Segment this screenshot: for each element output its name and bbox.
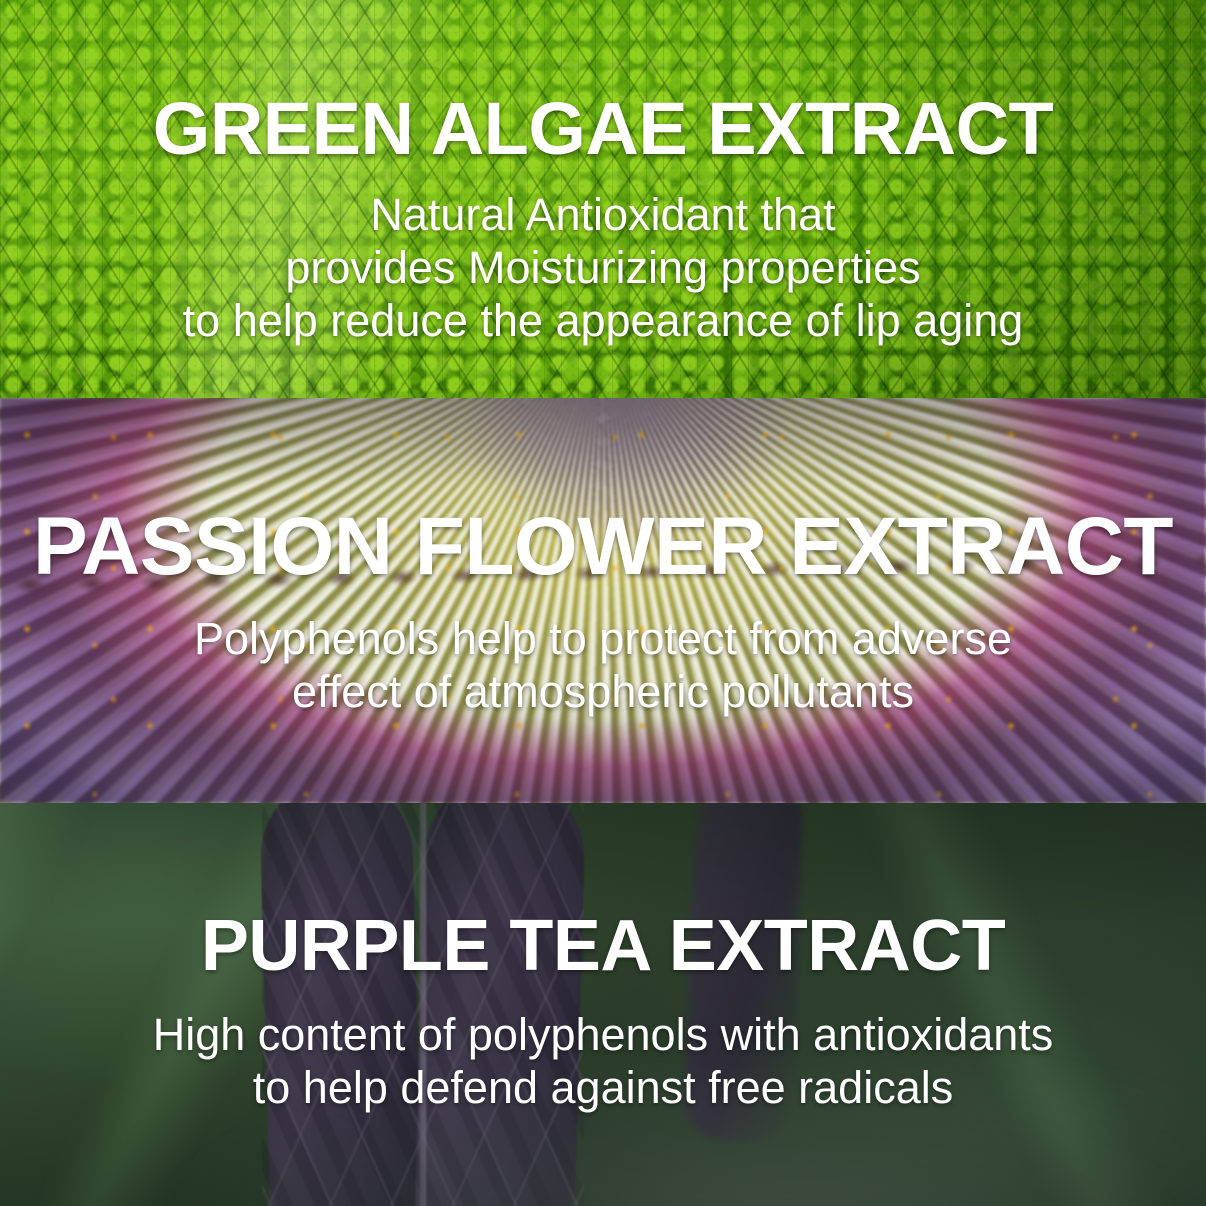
description-line: High content of polyphenols with antioxi… [0, 1008, 1206, 1061]
purple-tea-description: High content of polyphenols with antioxi… [0, 1008, 1206, 1114]
panel-purple-tea: PURPLE TEA EXTRACT High content of polyp… [0, 803, 1206, 1206]
purple-tea-content: PURPLE TEA EXTRACT High content of polyp… [0, 910, 1206, 1114]
green-algae-description: Natural Antioxidant that provides Moistu… [0, 188, 1206, 347]
purple-tea-title: PURPLE TEA EXTRACT [0, 910, 1206, 982]
passion-flower-title: PASSION FLOWER EXTRACT [0, 506, 1206, 588]
panel-passion-flower: PASSION FLOWER EXTRACT Polyphenols help … [0, 398, 1206, 803]
description-line: to help defend against free radicals [0, 1061, 1206, 1114]
description-line: to help reduce the appearance of lip agi… [0, 294, 1206, 347]
green-algae-title: GREEN ALGAE EXTRACT [0, 92, 1206, 166]
description-line: Natural Antioxidant that [0, 188, 1206, 241]
description-line: provides Moisturizing properties [0, 241, 1206, 294]
green-algae-content: GREEN ALGAE EXTRACT Natural Antioxidant … [0, 92, 1206, 347]
passion-flower-description: Polyphenols help to protect from adverse… [0, 612, 1206, 718]
description-line: Polyphenols help to protect from adverse [0, 612, 1206, 665]
panel-green-algae: GREEN ALGAE EXTRACT Natural Antioxidant … [0, 0, 1206, 398]
description-line: effect of atmospheric pollutants [0, 665, 1206, 718]
ingredient-benefits-poster: GREEN ALGAE EXTRACT Natural Antioxidant … [0, 0, 1206, 1206]
passion-flower-content: PASSION FLOWER EXTRACT Polyphenols help … [0, 506, 1206, 718]
